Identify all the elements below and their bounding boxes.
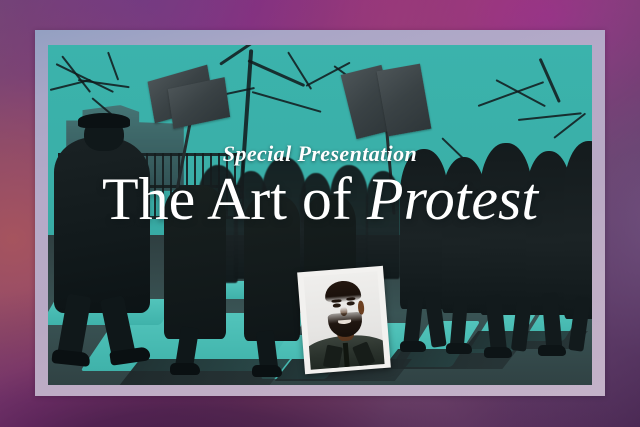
protest-sign-right-a bbox=[341, 65, 398, 139]
speaker-portrait-image bbox=[304, 271, 385, 370]
crowd-figure bbox=[480, 143, 532, 315]
tree-branch bbox=[219, 45, 265, 66]
foreground-figure-hat bbox=[78, 113, 130, 128]
protest-sign-left-b bbox=[168, 77, 230, 129]
crowd-figure bbox=[564, 141, 592, 319]
tree-branch bbox=[50, 79, 91, 91]
tree-branch bbox=[56, 63, 114, 93]
crowd-shoe bbox=[484, 347, 512, 358]
tree-branch bbox=[247, 59, 305, 87]
crowd-leg bbox=[256, 330, 279, 372]
background-building bbox=[66, 105, 184, 191]
crowd-figure bbox=[366, 171, 400, 279]
headline-block: Special Presentation The Art of Protest bbox=[48, 143, 592, 230]
ground-light-patch bbox=[48, 299, 176, 325]
protest-sign-left-a bbox=[148, 65, 215, 124]
crowd-figure bbox=[198, 165, 238, 283]
tree-branch bbox=[518, 112, 582, 121]
slide-kicker: Special Presentation bbox=[48, 143, 592, 165]
tree-branch bbox=[306, 62, 351, 87]
crowd-figure bbox=[330, 165, 368, 279]
crowd-figure bbox=[300, 173, 332, 277]
tree-branch bbox=[252, 91, 322, 113]
crowd-shoe bbox=[538, 345, 566, 356]
tree-branch bbox=[198, 87, 255, 101]
tree-branch bbox=[78, 79, 130, 88]
foreground-figure-coat bbox=[54, 137, 150, 313]
foreground-figure-head bbox=[84, 117, 124, 151]
crowd-figure bbox=[442, 157, 486, 313]
iron-fence bbox=[58, 153, 244, 219]
crowd-leg bbox=[403, 290, 424, 347]
crowd-leg bbox=[424, 292, 446, 348]
crowd-shoe bbox=[400, 341, 426, 352]
crowd-leg bbox=[485, 294, 507, 351]
crowd-figure bbox=[526, 151, 572, 315]
tree-branch bbox=[553, 113, 586, 139]
foreground-figure-leg bbox=[56, 293, 91, 362]
foreground-figure-shoe bbox=[51, 349, 90, 367]
crowd-figure bbox=[234, 171, 268, 279]
crowd-figure bbox=[164, 185, 226, 339]
tree-branch bbox=[91, 97, 118, 120]
crowd-figure bbox=[262, 157, 306, 283]
tree-branch bbox=[478, 81, 544, 107]
slide-canvas: Special Presentation The Art of Protest bbox=[0, 0, 640, 427]
slide-title-main: The Art of bbox=[102, 166, 367, 232]
fence-rail-top bbox=[58, 153, 244, 156]
tree-trunk bbox=[239, 49, 253, 199]
crowd-leg bbox=[511, 298, 532, 351]
foreground-figure-shoe bbox=[109, 346, 151, 365]
tree-branch bbox=[61, 55, 91, 92]
slide-title: The Art of Protest bbox=[48, 169, 592, 230]
foreground-figure-leg bbox=[100, 295, 136, 361]
crowd-leg bbox=[568, 296, 590, 352]
cast-shadow bbox=[120, 359, 290, 385]
crowd-figure bbox=[400, 149, 448, 309]
cast-shadow bbox=[464, 331, 588, 349]
ground-light-patch bbox=[163, 281, 269, 299]
portrait-eye-right bbox=[347, 301, 355, 305]
tree-branch bbox=[107, 52, 119, 81]
crowd-leg bbox=[175, 326, 199, 370]
slide-title-emphasis: Protest bbox=[367, 166, 538, 232]
speaker-portrait bbox=[297, 266, 391, 374]
tree-branch bbox=[496, 79, 546, 107]
ground-light-patch bbox=[523, 307, 584, 341]
ground-light-patch bbox=[80, 313, 309, 371]
crowd-figure bbox=[244, 195, 300, 341]
cast-shadow bbox=[382, 349, 518, 369]
protest-sign-right-b bbox=[377, 64, 432, 137]
crowd-leg bbox=[542, 292, 563, 351]
ground-light-patch bbox=[402, 321, 481, 367]
crowd-shoe bbox=[446, 343, 472, 354]
fence-rail-mid bbox=[58, 185, 244, 188]
tree-branch bbox=[441, 137, 480, 175]
crowd-shoe bbox=[170, 363, 200, 375]
protest-photo: Special Presentation The Art of Protest bbox=[48, 45, 592, 385]
protest-sign-pole bbox=[383, 105, 396, 215]
tree-branch bbox=[287, 51, 312, 89]
portrait-eye-left bbox=[333, 303, 341, 307]
portrait-hair bbox=[324, 280, 362, 303]
ground-light-patch bbox=[468, 313, 537, 353]
tree-branch bbox=[333, 65, 371, 94]
crowd-shoe bbox=[252, 365, 282, 377]
slide-mat-frame: Special Presentation The Art of Protest bbox=[35, 30, 605, 396]
fence-rail-bottom bbox=[58, 216, 244, 219]
tree-branch bbox=[539, 58, 561, 103]
protest-sign-pole bbox=[169, 95, 197, 223]
crowd-leg bbox=[450, 296, 468, 347]
